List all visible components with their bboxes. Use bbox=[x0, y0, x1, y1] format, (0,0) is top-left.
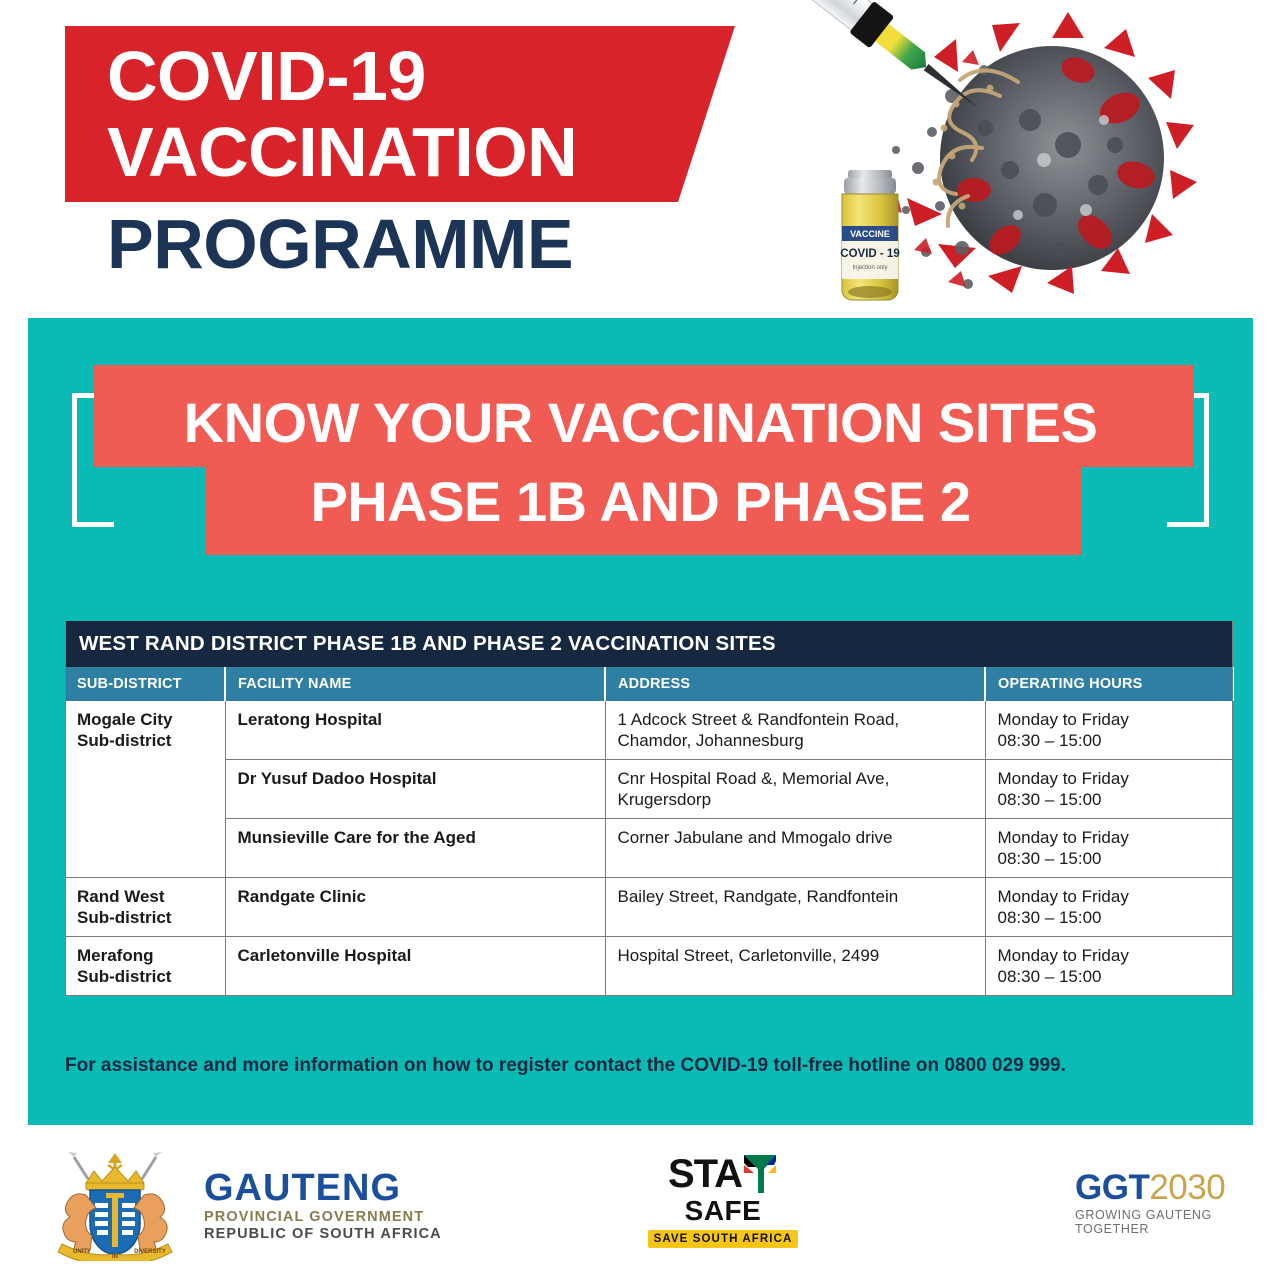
cell-address: Cnr Hospital Road &, Memorial Ave, Kruge… bbox=[605, 760, 985, 819]
table-row: Dr Yusuf Dadoo Hospital Cnr Hospital Roa… bbox=[65, 760, 1233, 819]
stay-safe-sta: STA bbox=[668, 1154, 742, 1194]
column-header-subdistrict: SUB-DISTRICT bbox=[65, 667, 225, 701]
cell-address: Hospital Street, Carletonville, 2499 bbox=[605, 937, 985, 996]
table-row: Rand West Sub-district Randgate Clinic B… bbox=[65, 878, 1233, 937]
cell-hours: Monday to Friday 08:30 – 15:00 bbox=[985, 878, 1233, 937]
gauteng-government-logo: UNITY IN DIVERSITY GAUTENG PROVINCIAL GO… bbox=[40, 1149, 442, 1261]
stay-safe-safe: SAFE bbox=[648, 1196, 798, 1226]
title-line-covid: COVID-19 bbox=[65, 26, 735, 114]
south-africa-flag-y-icon bbox=[742, 1153, 778, 1195]
vaccine-vial-icon: VACCINE COVID - 19 Injection only bbox=[822, 168, 918, 308]
vaccination-sites-table: WEST RAND DISTRICT PHASE 1B AND PHASE 2 … bbox=[65, 621, 1233, 996]
table-header-row: SUB-DISTRICT FACILITY NAME ADDRESS OPERA… bbox=[65, 667, 1233, 701]
title-line-programme: PROGRAMME bbox=[107, 205, 573, 283]
cell-subdistrict: Merafong Sub-district bbox=[65, 937, 225, 996]
table-row: Mogale City Sub-district Leratong Hospit… bbox=[65, 701, 1233, 760]
ggt-year: 2030 bbox=[1149, 1168, 1225, 1207]
virus-particle bbox=[886, 12, 1197, 294]
gauteng-subtitle-1: PROVINCIAL GOVERNMENT bbox=[204, 1210, 442, 1225]
stay-safe-banner: SAVE SOUTH AFRICA bbox=[648, 1230, 798, 1248]
ggt-tagline: GROWING GAUTENG TOGETHER bbox=[1075, 1208, 1280, 1236]
cell-subdistrict: Rand West Sub-district bbox=[65, 878, 225, 937]
covid-title-banner: COVID-19 VACCINATION bbox=[65, 26, 735, 202]
motto-in: IN bbox=[112, 1254, 118, 1260]
cell-address: 1 Adcock Street & Randfontein Road, Cham… bbox=[605, 701, 985, 760]
gauteng-name: GAUTENG bbox=[204, 1169, 442, 1207]
column-header-facility: FACILITY NAME bbox=[225, 667, 605, 701]
table-title-bar: WEST RAND DISTRICT PHASE 1B AND PHASE 2 … bbox=[65, 621, 1233, 667]
headline-line-2: PHASE 1B AND PHASE 2 bbox=[310, 465, 970, 539]
cell-hours: Monday to Friday 08:30 – 15:00 bbox=[985, 701, 1233, 760]
ggt-wordmark: GGT2030 bbox=[1075, 1169, 1280, 1207]
stay-safe-logo: STA SAFE SAVE SOUTH AFRICA bbox=[648, 1153, 798, 1248]
headline-banner: KNOW YOUR VACCINATION SITES PHASE 1B AND… bbox=[28, 365, 1253, 555]
motto-diversity: DIVERSITY bbox=[134, 1249, 166, 1255]
cell-facility: Randgate Clinic bbox=[225, 878, 605, 937]
cell-hours: Monday to Friday 08:30 – 15:00 bbox=[985, 937, 1233, 996]
coronavirus-syringe-illustration bbox=[700, 0, 1280, 318]
vial-band-label: VACCINE bbox=[850, 229, 890, 239]
cell-address: Bailey Street, Randgate, Randfontein bbox=[605, 878, 985, 937]
poster-root: COVID-19 VACCINATION PROGRAMME bbox=[0, 0, 1280, 1280]
headline-text-group: KNOW YOUR VACCINATION SITES PHASE 1B AND… bbox=[28, 365, 1253, 555]
vial-note-label: Injection only bbox=[852, 265, 887, 271]
column-header-hours: OPERATING HOURS bbox=[985, 667, 1233, 701]
teal-content-panel: KNOW YOUR VACCINATION SITES PHASE 1B AND… bbox=[28, 318, 1253, 1125]
gauteng-coat-of-arms-icon: UNITY IN DIVERSITY bbox=[40, 1149, 190, 1261]
cell-address: Corner Jabulane and Mmogalo drive bbox=[605, 819, 985, 878]
stay-safe-top-row: STA bbox=[648, 1153, 798, 1195]
headline-line-1: KNOW YOUR VACCINATION SITES bbox=[184, 381, 1098, 465]
ggt2030-logo: GGT2030 GROWING GAUTENG TOGETHER bbox=[1075, 1169, 1280, 1236]
sites-table: SUB-DISTRICT FACILITY NAME ADDRESS OPERA… bbox=[65, 667, 1234, 996]
cell-facility: Dr Yusuf Dadoo Hospital bbox=[225, 760, 605, 819]
ggt-mark: GGT bbox=[1075, 1168, 1149, 1207]
gauteng-wordmark: GAUTENG PROVINCIAL GOVERNMENT REPUBLIC O… bbox=[204, 1169, 442, 1241]
cell-facility: Carletonville Hospital bbox=[225, 937, 605, 996]
cell-hours: Monday to Friday 08:30 – 15:00 bbox=[985, 819, 1233, 878]
cell-facility: Munsieville Care for the Aged bbox=[225, 819, 605, 878]
hotline-note: For assistance and more information on h… bbox=[65, 1053, 1225, 1079]
header-section: COVID-19 VACCINATION PROGRAMME bbox=[0, 0, 1280, 318]
table-row: Munsieville Care for the Aged Corner Jab… bbox=[65, 819, 1233, 878]
vial-name-label: COVID - 19 bbox=[840, 248, 899, 260]
column-header-address: ADDRESS bbox=[605, 667, 985, 701]
title-line-vaccination: VACCINATION bbox=[65, 114, 735, 190]
table-row: Merafong Sub-district Carletonville Hosp… bbox=[65, 937, 1233, 996]
cell-facility: Leratong Hospital bbox=[225, 701, 605, 760]
gauteng-subtitle-2: REPUBLIC OF SOUTH AFRICA bbox=[204, 1227, 442, 1242]
cell-hours: Monday to Friday 08:30 – 15:00 bbox=[985, 760, 1233, 819]
cell-subdistrict: Mogale City Sub-district bbox=[65, 701, 225, 878]
motto-unity: UNITY bbox=[73, 1249, 91, 1255]
logo-strip: UNITY IN DIVERSITY GAUTENG PROVINCIAL GO… bbox=[0, 1125, 1280, 1280]
